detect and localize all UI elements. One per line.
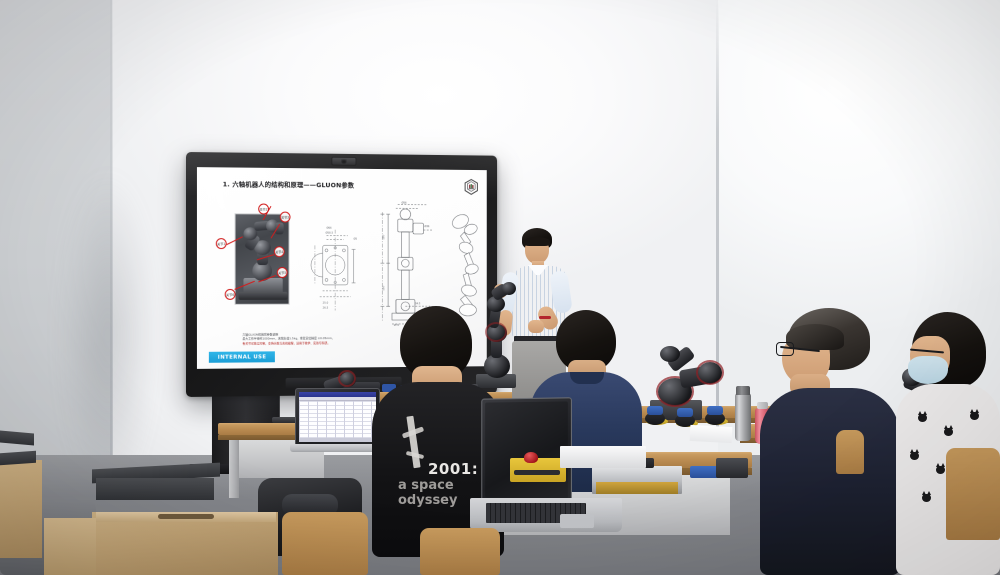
laptop-center-trackpad[interactable] [560,514,594,528]
slide-callout: 关节2 [258,204,269,215]
hexagon-shield-logo [464,179,478,196]
laptop-left-screen[interactable] [299,392,376,442]
svg-text:180: 180 [381,234,385,239]
slide-callout: 关节4 [274,246,285,257]
classroom-photo-scene: 1. 六轴机器人的结构和原理——GLUON参数 [0,0,1000,575]
laptop-left[interactable] [295,388,380,446]
suction-clamp-blue [677,408,693,417]
left-desk-leg [229,440,239,498]
shelf-dark-body [96,478,214,500]
cat-print-motif [910,452,919,460]
cat-print-motif [918,414,927,422]
cat-print-motif [944,428,953,436]
chair-right [946,448,1000,540]
camera-icon [331,157,356,166]
internal-use-badge: INTERNAL USE [209,351,275,362]
thermos [735,393,751,441]
laptop-spreadsheet-grid[interactable] [299,401,376,438]
slide-robot-photo [235,213,290,305]
laptop-center-screen[interactable] [485,401,568,498]
student-center-collar [570,372,604,384]
papers [690,425,733,443]
suction-clamp-blue [647,406,663,415]
box-left-lid [0,451,36,466]
slide-callout: 关节5 [277,267,288,278]
emergency-stop-button[interactable] [524,452,538,463]
module-dark-front [716,458,748,478]
suction-clamp-blue [707,406,723,415]
chair-mid-right [836,430,864,474]
slide-callout: 关节3 [280,212,291,223]
svg-text:Ø66: Ø66 [327,225,333,230]
svg-text:Ø58.5: Ø58.5 [326,230,334,235]
cardboard-box-left [0,460,42,558]
thermos-cap [736,386,750,395]
white-box [560,446,646,468]
svg-text:34.5: 34.5 [415,301,421,305]
student-right-hair-front [786,324,844,350]
face-mask [908,356,948,384]
svg-text:26.5: 26.5 [323,306,329,310]
cat-print-motif [970,412,979,420]
svg-text:25.0: 25.0 [323,301,329,305]
cat-print-motif [936,466,945,474]
tshirt-text-line1: 2001: [428,460,478,478]
svg-text:180: 180 [381,285,385,290]
slide-cad-drawing-base: Ø58.5 Ø66 25.0 26.5 Ø5 [307,220,363,323]
presenter-fringe [524,237,550,246]
svg-text:Ø5: Ø5 [354,236,358,241]
svg-text:Ø56: Ø56 [402,200,407,204]
box-handle [158,514,214,519]
chair-front-left-2 [420,528,500,575]
student-right [760,308,900,575]
slide-callout: 关节1 [216,238,227,249]
eyeglass-lens [776,342,794,356]
cardboard-box-flap [44,518,96,575]
laptop-center[interactable] [481,397,572,502]
svg-text:Ø36: Ø36 [424,223,429,228]
estop-cable [514,470,560,475]
chair-front-left [282,512,368,575]
cat-print-motif [922,494,931,502]
controller-box-face [596,482,678,494]
slide-callout: 关节6 [225,289,236,300]
wall-shadow [60,170,155,500]
laptop-statusbar [299,438,376,442]
student-right-tshirt [760,388,900,575]
slide-title: 1. 六轴机器人的结构和原理——GLUON参数 [223,179,354,189]
